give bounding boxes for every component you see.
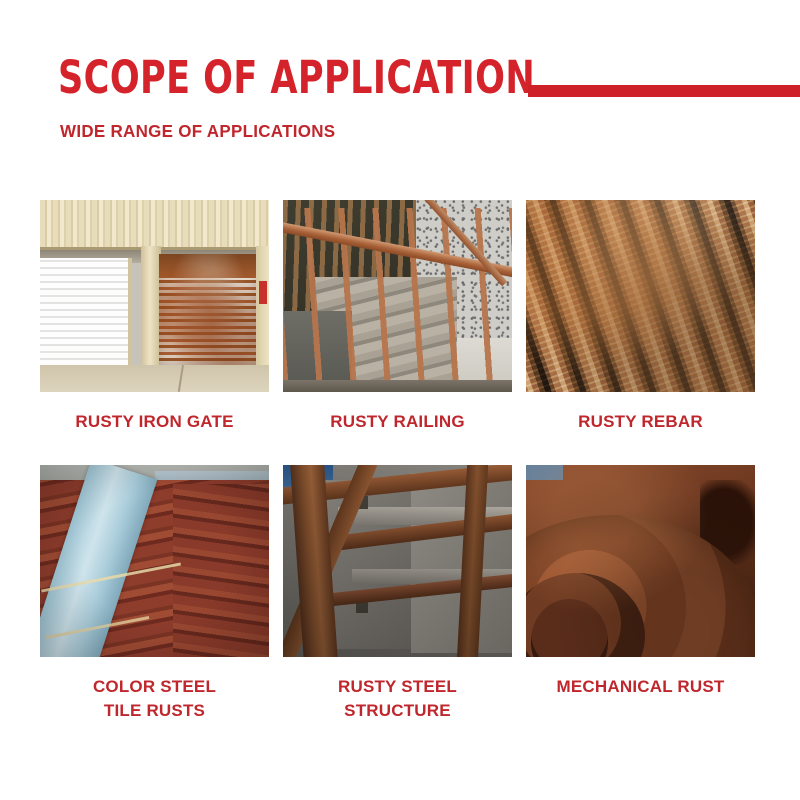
rusty-steel-structure-photo xyxy=(283,465,512,657)
gallery-item-caption: RUSTY IRON GATE xyxy=(40,410,269,434)
gallery-item[interactable]: COLOR STEEL TILE RUSTS xyxy=(40,465,269,723)
color-steel-tile-rust-photo xyxy=(40,465,269,657)
vignette-overlay xyxy=(40,465,269,657)
gallery-item-caption: RUSTY STEEL STRUCTURE xyxy=(283,675,512,723)
gallery-item[interactable]: RUSTY IRON GATE xyxy=(40,200,269,434)
rusty-iron-gate-photo xyxy=(40,200,269,392)
concrete-ground xyxy=(40,365,269,392)
rust-grain-overlay xyxy=(526,465,755,657)
mechanical-rust-photo xyxy=(526,465,755,657)
corrugated-facade xyxy=(40,200,269,250)
gallery-item[interactable]: RUSTY REBAR xyxy=(526,200,755,434)
scope-of-application-page: SCOPE OF APPLICATION WIDE RANGE OF APPLI… xyxy=(0,0,800,800)
rusted-rollup-door xyxy=(159,254,257,365)
wall-pillar-right xyxy=(256,246,269,365)
gallery-item-caption: RUSTY REBAR xyxy=(526,410,755,434)
page-header: SCOPE OF APPLICATION WIDE RANGE OF APPLI… xyxy=(0,0,800,170)
title-underline-bar xyxy=(528,85,800,97)
white-garage-door xyxy=(40,258,132,366)
page-title: SCOPE OF APPLICATION xyxy=(58,55,535,101)
gallery-item-caption: COLOR STEEL TILE RUSTS xyxy=(40,675,269,723)
gallery-item-caption: RUSTY RAILING xyxy=(283,410,512,434)
rust-tint-overlay xyxy=(526,200,755,392)
gallery-item[interactable]: RUSTY STEEL STRUCTURE xyxy=(283,465,512,723)
gallery-item-caption: MECHANICAL RUST xyxy=(526,675,755,699)
rusty-rebar-photo xyxy=(526,200,755,392)
rusty-railing-photo xyxy=(283,200,512,392)
red-fixture xyxy=(259,281,267,304)
page-subtitle: WIDE RANGE OF APPLICATIONS xyxy=(60,121,335,142)
gallery-item[interactable]: RUSTY RAILING xyxy=(283,200,512,434)
shadow-overlay xyxy=(283,465,512,657)
gallery-item[interactable]: MECHANICAL RUST xyxy=(526,465,755,699)
foreground-shadow xyxy=(283,380,512,392)
